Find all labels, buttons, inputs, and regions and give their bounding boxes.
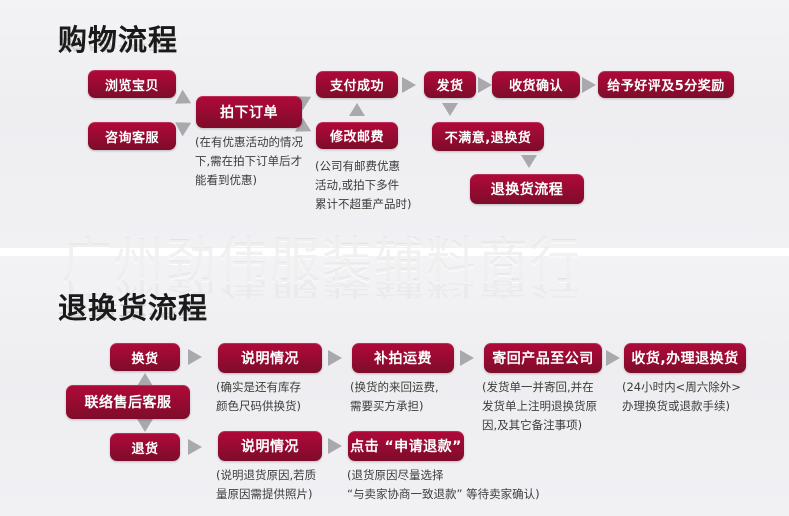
arrow-fee-to-payment-icon: [349, 103, 365, 116]
box-refund[interactable]: 退货: [110, 433, 180, 461]
box-modify-shipping-fee[interactable]: 修改邮费: [316, 122, 398, 149]
box-payment-success[interactable]: 支付成功: [316, 71, 398, 98]
arrow-payment-to-ship-icon: [402, 77, 416, 93]
arrow-fee-to-sendback-icon: [460, 350, 474, 366]
arrow-sendback-to-receive-icon: [606, 350, 620, 366]
arrow-ship-to-receipt-icon: [478, 77, 492, 93]
box-consult-service[interactable]: 咨询客服: [88, 122, 176, 150]
box-contact-after-sales[interactable]: 联络售后客服: [66, 385, 190, 419]
arrow-refund-to-explain-icon: [188, 439, 202, 455]
note-apply-refund: (退货原因尽量选择 “与卖家协商一致退款” 等待卖家确认): [347, 466, 647, 504]
box-give-good-review[interactable]: 给予好评及5分奖励: [598, 71, 734, 98]
note-refund-reason: (说明退货原因,若质 量原因需提供照片): [216, 466, 348, 504]
box-place-order[interactable]: 拍下订单: [196, 96, 302, 128]
box-exchange[interactable]: 换货: [110, 343, 180, 371]
box-click-apply-refund[interactable]: 点击 “申请退款”: [348, 431, 464, 461]
note-send-back: (发货单一并寄回,并在 发货单上注明退换货原 因,及其它备注事项): [482, 378, 622, 435]
arrow-contact-to-refund-icon: [137, 419, 153, 432]
shopping-flow-title: 购物流程: [58, 17, 178, 59]
flowchart-image: 广州劲伟服装辅料商行 广州劲伟服装辅料商行 购物流程 购物流程 退换货流程 退换…: [0, 0, 789, 516]
box-unsatisfied-return[interactable]: 不满意,退换货: [432, 122, 544, 151]
box-pay-shipping-fee[interactable]: 补拍运费: [352, 343, 454, 373]
note-receive-process: (24小时内<周六除外> 办理换货或退款手续): [622, 378, 774, 416]
return-flow-title: 退换货流程: [58, 285, 208, 327]
arrow-receipt-to-review-icon: [582, 77, 596, 93]
box-explain-situation-top[interactable]: 说明情况: [218, 343, 322, 373]
arrow-explain-to-apply-icon: [328, 438, 342, 454]
box-confirm-receipt[interactable]: 收货确认: [492, 71, 580, 98]
note-shipping-fee: (换货的来回运费, 需要买方承担): [350, 378, 482, 416]
box-explain-situation-bot[interactable]: 说明情况: [218, 431, 322, 461]
arrow-ship-to-unsatisfied-icon: [442, 103, 458, 116]
box-ship-goods[interactable]: 发货: [424, 71, 476, 98]
box-receive-and-process[interactable]: 收货,办理退换货: [624, 343, 746, 373]
box-send-back-product[interactable]: 寄回产品至公司: [484, 343, 602, 373]
arrow-exchange-to-explain-icon: [188, 349, 202, 365]
note-modify-shipping-fee: (公司有邮费优惠 活动,或拍下多件 累计不超重产品时): [315, 157, 441, 214]
arrow-explain-to-fee-icon: [328, 350, 342, 366]
note-exchange-stock: (确实是还有库存 颜色尺码供换货): [216, 378, 348, 416]
box-return-process[interactable]: 退换货流程: [470, 174, 584, 204]
arrow-unsatisfied-to-process-icon: [521, 155, 537, 168]
note-place-order: (在有优惠活动的情况 下,需在拍下订单后才 能看到优惠): [195, 133, 321, 190]
box-browse-item[interactable]: 浏览宝贝: [88, 70, 176, 98]
